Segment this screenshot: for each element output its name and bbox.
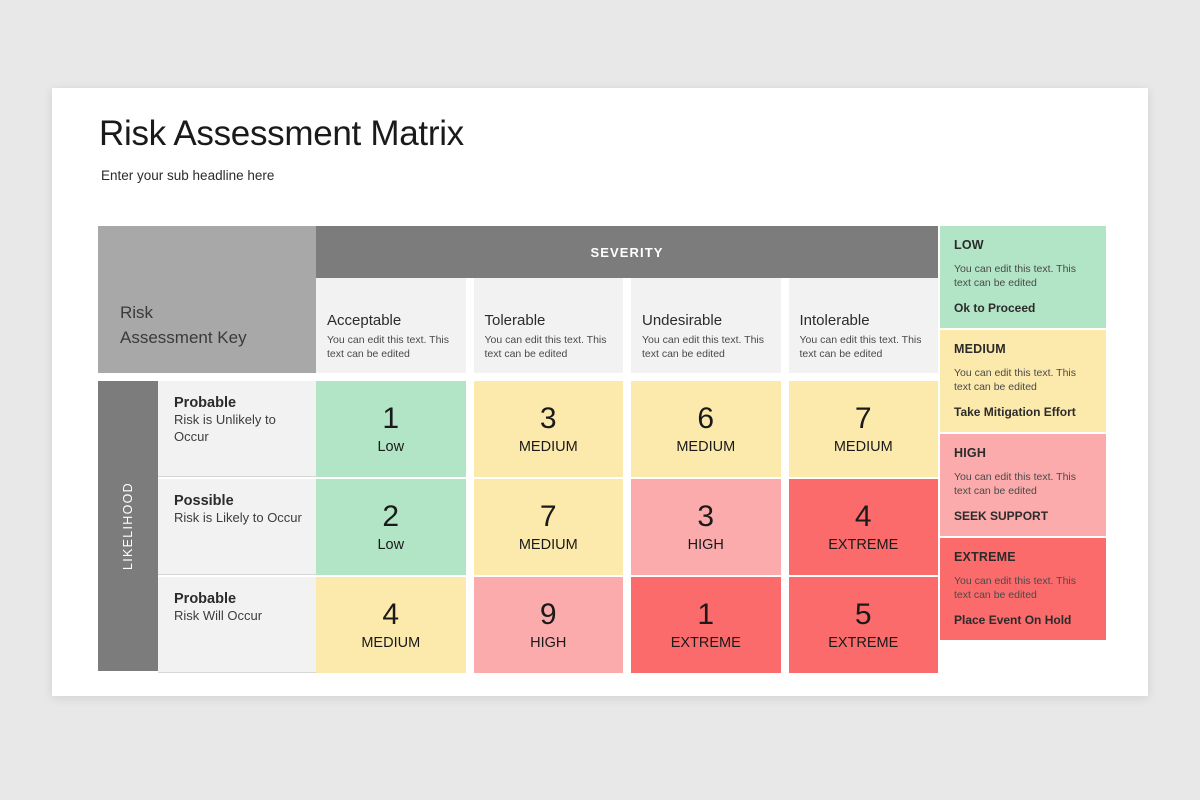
matrix-cell-number: 7	[540, 502, 557, 532]
legend-title: MEDIUM	[954, 342, 1093, 356]
risk-legend: LOWYou can edit this text. This text can…	[940, 226, 1106, 642]
legend-desc: You can edit this text. This text can be…	[954, 574, 1093, 603]
risk-key-block: Risk Assessment Key	[98, 278, 316, 373]
legend-title: EXTREME	[954, 550, 1093, 564]
likelihood-row-title: Probable	[174, 591, 304, 607]
legend-action: Ok to Proceed	[954, 301, 1093, 315]
title-block: Risk Assessment Matrix Enter your sub he…	[99, 114, 464, 183]
matrix-cell-label: MEDIUM	[519, 439, 578, 455]
likelihood-row-desc: Risk is Likely to Occur	[174, 510, 304, 527]
matrix-cell-label: HIGH	[530, 635, 566, 651]
severity-columns-band: Risk Assessment Key AcceptableYou can ed…	[98, 278, 938, 373]
matrix-cell[interactable]: 1Low	[316, 381, 466, 477]
matrix-cell[interactable]: 4EXTREME	[789, 479, 939, 575]
legend-block: MEDIUMYou can edit this text. This text …	[940, 330, 1106, 432]
likelihood-row-label: ProbableRisk is Unlikely to Occur	[158, 381, 316, 477]
matrix-cell-number: 1	[697, 600, 714, 630]
likelihood-row-label: PossibleRisk is Likely to Occur	[158, 479, 316, 575]
risk-key-label-line1: Risk	[120, 301, 247, 326]
matrix-cell[interactable]: 4MEDIUM	[316, 577, 466, 673]
slide-card: Risk Assessment Matrix Enter your sub he…	[52, 88, 1148, 696]
legend-action: Take Mitigation Effort	[954, 405, 1093, 419]
matrix-cell[interactable]: 3HIGH	[631, 479, 781, 575]
severity-column-title: Tolerable	[485, 312, 612, 329]
matrix-cell[interactable]: 5EXTREME	[789, 577, 939, 673]
severity-column-title: Acceptable	[327, 312, 454, 329]
likelihood-axis-bar: LIKELIHOOD	[98, 381, 158, 671]
matrix-cell-number: 7	[855, 404, 872, 434]
page-title: Risk Assessment Matrix	[99, 114, 464, 154]
legend-title: HIGH	[954, 446, 1093, 460]
severity-column: TolerableYou can edit this text. This te…	[474, 278, 624, 373]
legend-desc: You can edit this text. This text can be…	[954, 262, 1093, 291]
matrix-cell-label: MEDIUM	[519, 537, 578, 553]
matrix-cell-label: EXTREME	[828, 635, 898, 651]
matrix-cell-number: 9	[540, 600, 557, 630]
matrix-header-band: SEVERITY	[98, 226, 938, 278]
matrix-cell-label: MEDIUM	[834, 439, 893, 455]
risk-key-label: Risk Assessment Key	[120, 301, 247, 350]
severity-column: AcceptableYou can edit this text. This t…	[316, 278, 466, 373]
matrix-cell[interactable]: 1EXTREME	[631, 577, 781, 673]
likelihood-row-desc: Risk Will Occur	[174, 608, 304, 625]
legend-action: SEEK SUPPORT	[954, 509, 1093, 523]
matrix-cell-list: 2Low7MEDIUM3HIGH4EXTREME	[316, 479, 938, 575]
legend-block: LOWYou can edit this text. This text can…	[940, 226, 1106, 328]
matrix-cell-label: EXTREME	[671, 635, 741, 651]
matrix-cell-number: 4	[855, 502, 872, 532]
matrix-cell-list: 4MEDIUM9HIGH1EXTREME5EXTREME	[316, 577, 938, 673]
matrix-cell-number: 6	[697, 404, 714, 434]
matrix-cell-label: MEDIUM	[676, 439, 735, 455]
matrix-cell-label: MEDIUM	[361, 635, 420, 651]
likelihood-row-title: Possible	[174, 493, 304, 509]
matrix-cell[interactable]: 6MEDIUM	[631, 381, 781, 477]
severity-column: UndesirableYou can edit this text. This …	[631, 278, 781, 373]
matrix-cell-label: EXTREME	[828, 537, 898, 553]
matrix-cell[interactable]: 3MEDIUM	[474, 381, 624, 477]
matrix-cell[interactable]: 9HIGH	[474, 577, 624, 673]
legend-desc: You can edit this text. This text can be…	[954, 366, 1093, 395]
legend-title: LOW	[954, 238, 1093, 252]
matrix-cell-label: HIGH	[688, 537, 724, 553]
matrix-cell-number: 5	[855, 600, 872, 630]
likelihood-row-title: Probable	[174, 395, 304, 411]
matrix-row: PossibleRisk is Likely to Occur2Low7MEDI…	[98, 479, 938, 575]
likelihood-row-desc: Risk is Unlikely to Occur	[174, 412, 304, 446]
matrix-body: ProbableRisk is Unlikely to Occur1Low3ME…	[98, 381, 938, 673]
severity-column-title: Undesirable	[642, 312, 769, 329]
legend-desc: You can edit this text. This text can be…	[954, 470, 1093, 499]
severity-header: SEVERITY	[316, 226, 938, 278]
severity-column: IntolerableYou can edit this text. This …	[789, 278, 939, 373]
matrix-cell[interactable]: 2Low	[316, 479, 466, 575]
severity-column-title: Intolerable	[800, 312, 927, 329]
risk-key-block-top	[98, 226, 316, 278]
likelihood-axis-label: LIKELIHOOD	[121, 482, 135, 570]
severity-column-desc: You can edit this text. This text can be…	[485, 333, 612, 361]
severity-column-list: AcceptableYou can edit this text. This t…	[316, 278, 938, 373]
matrix-cell-number: 4	[382, 600, 399, 630]
matrix-cell-number: 1	[382, 404, 399, 434]
matrix-cell-label: Low	[377, 439, 404, 455]
matrix-cell-label: Low	[377, 537, 404, 553]
severity-column-desc: You can edit this text. This text can be…	[642, 333, 769, 361]
severity-column-desc: You can edit this text. This text can be…	[800, 333, 927, 361]
matrix-row: ProbableRisk Will Occur4MEDIUM9HIGH1EXTR…	[98, 577, 938, 673]
severity-column-desc: You can edit this text. This text can be…	[327, 333, 454, 361]
risk-key-label-line2: Assessment Key	[120, 326, 247, 351]
legend-action: Place Event On Hold	[954, 613, 1093, 627]
risk-matrix: LIKELIHOOD SEVERITY Risk Assessment Key …	[98, 226, 938, 675]
matrix-cell-number: 2	[382, 502, 399, 532]
matrix-cell[interactable]: 7MEDIUM	[474, 479, 624, 575]
matrix-row: ProbableRisk is Unlikely to Occur1Low3ME…	[98, 381, 938, 477]
legend-block: HIGHYou can edit this text. This text ca…	[940, 434, 1106, 536]
matrix-cell-list: 1Low3MEDIUM6MEDIUM7MEDIUM	[316, 381, 938, 477]
page-subtitle: Enter your sub headline here	[101, 168, 464, 183]
matrix-cell[interactable]: 7MEDIUM	[789, 381, 939, 477]
legend-block: EXTREMEYou can edit this text. This text…	[940, 538, 1106, 640]
likelihood-row-label: ProbableRisk Will Occur	[158, 577, 316, 673]
matrix-cell-number: 3	[540, 404, 557, 434]
matrix-cell-number: 3	[697, 502, 714, 532]
